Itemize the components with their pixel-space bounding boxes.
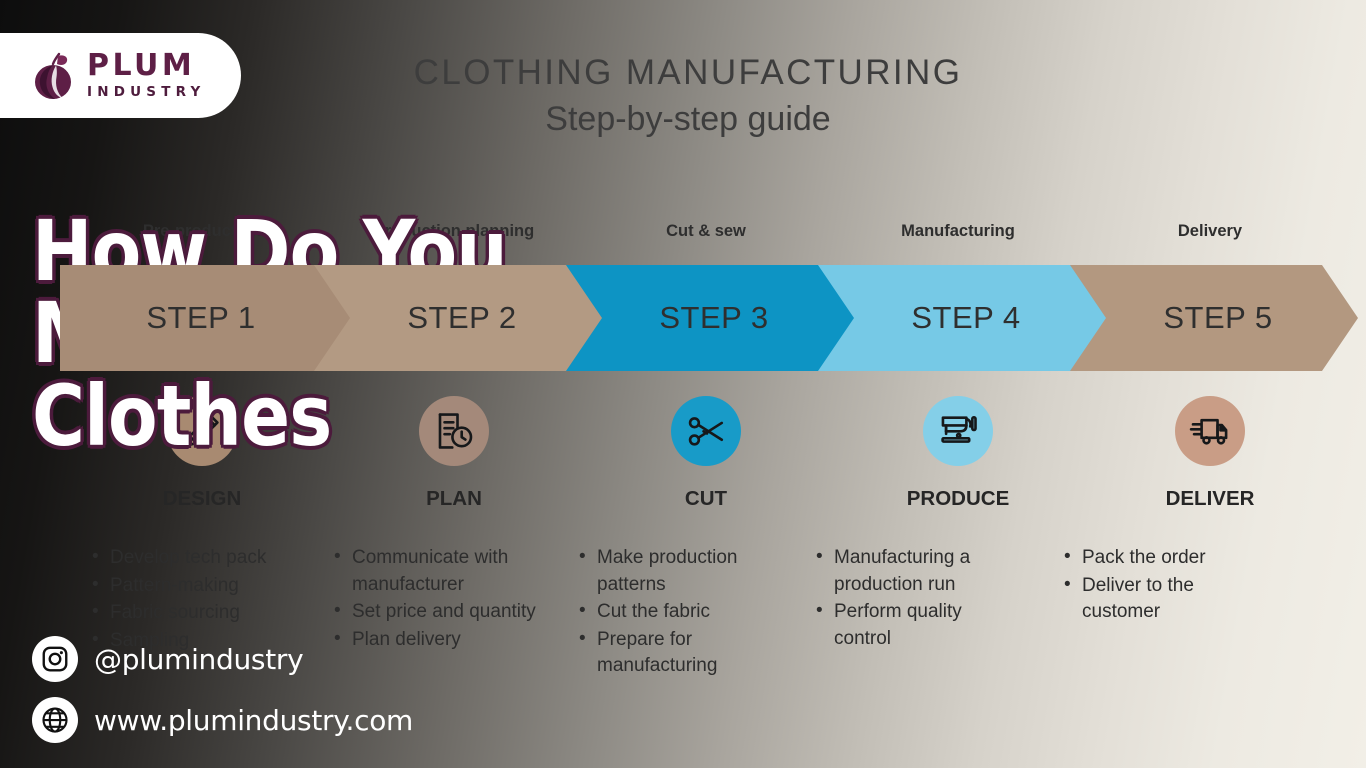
delivery-truck-icon: [1175, 396, 1245, 466]
sewing-machine-icon: [923, 396, 993, 466]
bullet-item: Fabric sourcing: [88, 600, 318, 627]
brand-logo[interactable]: PLUM INDUSTRY: [0, 33, 241, 118]
chevron-step-label-3: STEP 3: [659, 300, 768, 336]
bullet-item: Develop tech pack: [88, 545, 318, 572]
website-link[interactable]: www.plumindustry.com: [32, 697, 413, 743]
instagram-link[interactable]: @plumindustry: [32, 636, 413, 682]
bullet-column-3: Make production patternsCut the fabricPr…: [575, 545, 790, 681]
website-url: www.plumindustry.com: [94, 704, 413, 737]
chevron-step-3[interactable]: STEP 3: [564, 265, 854, 371]
bullet-item: Manufacturing a production run: [812, 545, 1022, 598]
chevron-step-1[interactable]: STEP 1: [60, 265, 350, 371]
bullet-item: Communicate with manufacturer: [330, 545, 555, 598]
chevron-step-2[interactable]: STEP 2: [312, 265, 602, 371]
chevron-step-label-4: STEP 4: [911, 300, 1020, 336]
title-line-1: CLOTHING MANUFACTURING: [378, 52, 998, 93]
plum-fruit-icon: [32, 51, 78, 101]
phase-label-5: Delivery: [1178, 222, 1242, 241]
bullet-column-4: Manufacturing a production runPerform qu…: [812, 545, 1022, 653]
bullet-item: Cut the fabric: [575, 599, 790, 626]
bullet-item: Perform quality control: [812, 599, 1022, 652]
page-title: CLOTHING MANUFACTURING Step-by-step guid…: [378, 52, 998, 141]
bullet-item: Pattern-making: [88, 573, 318, 600]
step-action-3: CUT: [685, 487, 727, 511]
chevron-step-label-2: STEP 2: [407, 300, 516, 336]
logo-wordmark-industry: INDUSTRY: [87, 86, 205, 100]
chevron-step-label-1: STEP 1: [146, 300, 255, 336]
bullet-item: Deliver to the customer: [1060, 573, 1260, 626]
bullet-item: Prepare for manufacturing: [575, 627, 790, 680]
chevron-step-label-5: STEP 5: [1163, 300, 1272, 336]
bullet-item: Make production patterns: [575, 545, 790, 598]
social-links: @plumindustry www.plumindustry.com: [32, 636, 413, 758]
infographic-canvas: PLUM INDUSTRY CLOTHING MANUFACTURING Ste…: [0, 0, 1366, 768]
step-action-4: PRODUCE: [907, 487, 1010, 511]
instagram-handle: @plumindustry: [94, 643, 303, 676]
scissors-icon: [671, 396, 741, 466]
step-action-1: DESIGN: [163, 487, 242, 511]
bullet-column-5: Pack the orderDeliver to the customer: [1060, 545, 1260, 627]
step-action-2: PLAN: [426, 487, 482, 511]
chevron-step-4[interactable]: STEP 4: [816, 265, 1106, 371]
step-action-5: DELIVER: [1166, 487, 1255, 511]
step-action-row: DESIGNPLANCUTPRODUCEDELIVER: [0, 487, 1366, 515]
globe-icon: [32, 697, 78, 743]
overlay-line-3: Clothes: [32, 375, 582, 457]
instagram-icon: [32, 636, 78, 682]
bullet-item: Pack the order: [1060, 545, 1260, 572]
phase-label-3: Cut & sew: [666, 222, 746, 241]
chevron-step-5[interactable]: STEP 5: [1068, 265, 1358, 371]
title-line-2: Step-by-step guide: [378, 97, 998, 141]
phase-label-4: Manufacturing: [901, 222, 1015, 241]
process-chevron-row: STEP 1STEP 2STEP 3STEP 4STEP 5: [60, 265, 1320, 371]
bullet-item: Set price and quantity: [330, 599, 555, 626]
logo-wordmark-plum: PLUM: [87, 51, 205, 81]
